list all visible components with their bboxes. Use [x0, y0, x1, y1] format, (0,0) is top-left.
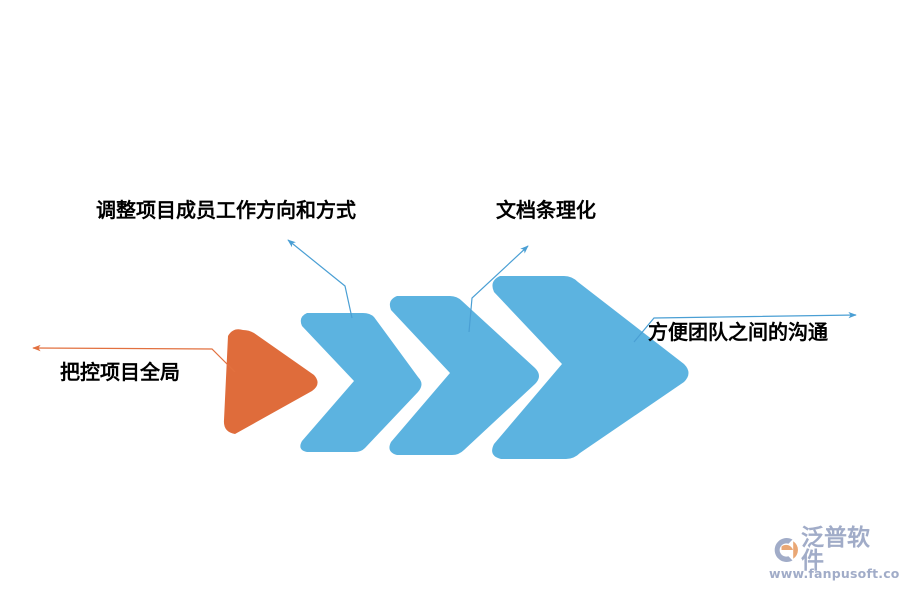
watermark-logo: 泛普软件 www.fanpusoft.com: [768, 534, 892, 586]
stage-1-triangle: [224, 329, 318, 434]
label-project-control: 把控项目全局: [60, 362, 180, 382]
label-team-communication: 方便团队之间的沟通: [648, 322, 828, 342]
diagram-canvas: 调整项目成员工作方向和方式 文档条理化 方便团队之间的沟通 把控项目全局 泛普软…: [0, 0, 900, 600]
fanpu-logo-icon: [768, 535, 798, 565]
label-adjust-member-direction: 调整项目成员工作方向和方式: [96, 200, 356, 220]
watermark-url: www.fanpusoft.com: [769, 568, 900, 581]
label-document-organization: 文档条理化: [496, 200, 596, 220]
connector-adjust: [288, 240, 352, 318]
process-arrow-diagram: [0, 0, 900, 600]
watermark-top-row: 泛普软件: [768, 534, 892, 566]
